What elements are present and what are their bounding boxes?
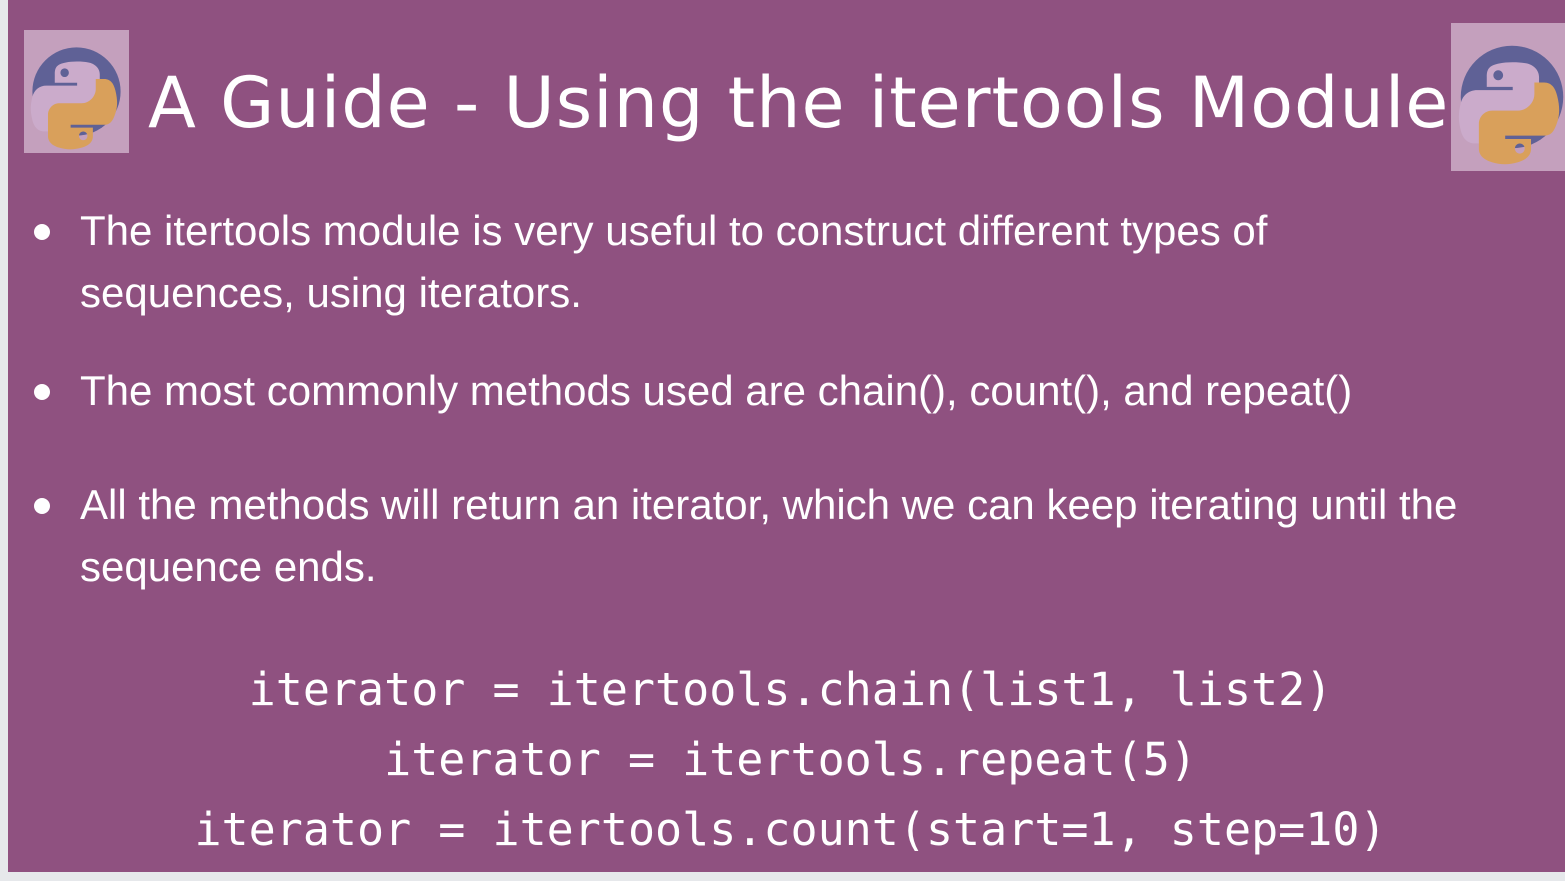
python-logo-left	[24, 30, 129, 153]
list-item: The itertools module is very useful to c…	[34, 200, 1534, 324]
slide-title: A Guide - Using the itertools Module	[148, 48, 1448, 158]
python-logo-icon	[1451, 23, 1565, 171]
bullet-dot-icon	[34, 224, 50, 240]
bullet-text: All the methods will return an iterator,…	[80, 474, 1520, 598]
code-line: iterator = itertools.count(start=1, step…	[8, 795, 1565, 865]
list-item: The most commonly methods used are chain…	[34, 360, 1534, 422]
python-logo-right	[1451, 23, 1565, 171]
code-line: iterator = itertools.repeat(5)	[8, 725, 1565, 795]
presentation-slide: A Guide - Using the itertools Module The…	[0, 0, 1565, 881]
code-line: iterator = itertools.chain(list1, list2)	[8, 655, 1565, 725]
bullet-text: The most commonly methods used are chain…	[80, 360, 1480, 422]
code-sample: iterator = itertools.chain(list1, list2)…	[8, 655, 1565, 865]
bullet-list: The itertools module is very useful to c…	[34, 200, 1534, 634]
bullet-dot-icon	[34, 498, 50, 514]
bullet-dot-icon	[34, 384, 50, 400]
bullet-text: The itertools module is very useful to c…	[80, 200, 1490, 324]
list-item: All the methods will return an iterator,…	[34, 474, 1534, 598]
python-logo-icon	[24, 30, 129, 153]
